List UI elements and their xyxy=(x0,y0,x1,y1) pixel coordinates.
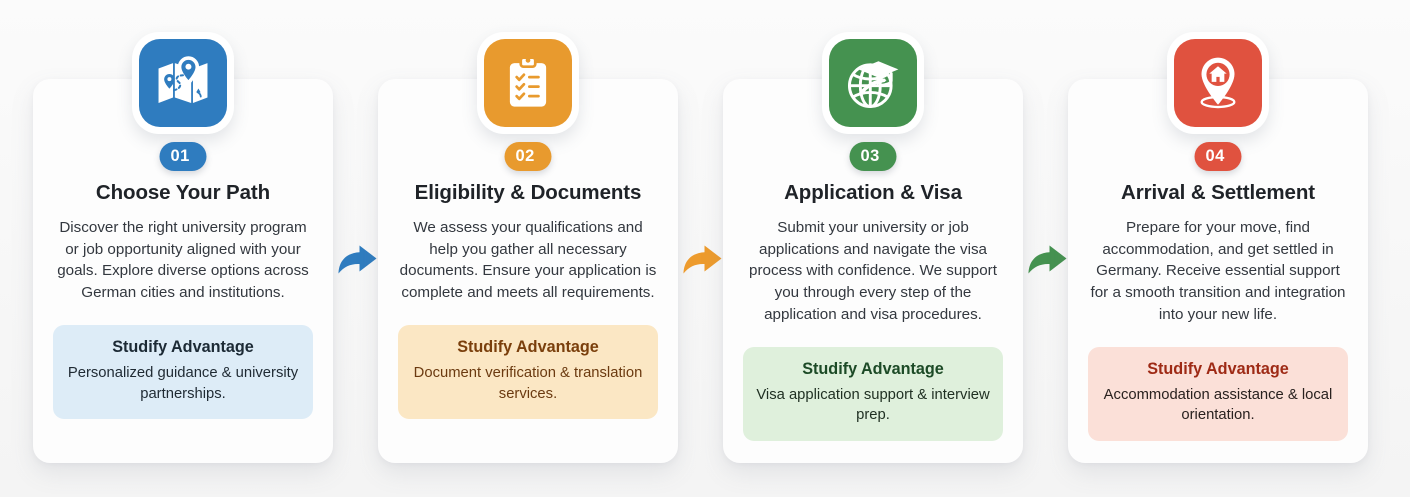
advantage-title: Studify Advantage xyxy=(753,360,993,379)
step-card-01[interactable]: Choose Your Path Discover the right univ… xyxy=(33,79,333,463)
step-icon-tile-wrapper-01 xyxy=(132,32,234,134)
step-number-badge-02: 02 xyxy=(505,142,552,171)
step-icon-tile-wrapper-02 xyxy=(477,32,579,134)
advantage-title: Studify Advantage xyxy=(408,338,648,357)
studify-advantage-panel: Studify Advantage Accommodation assistan… xyxy=(1088,347,1348,441)
step-title: Choose Your Path xyxy=(51,181,315,205)
step-number-badge-01: 01 xyxy=(160,142,207,171)
step-description: Submit your university or job applicatio… xyxy=(741,217,1005,326)
folded-map-icon xyxy=(139,39,227,127)
arrow-step-2-to-3 xyxy=(678,0,723,497)
advantage-text: Visa application support & interview pre… xyxy=(753,385,993,426)
arrow-step-1-to-2 xyxy=(333,0,378,497)
step-title: Application & Visa xyxy=(741,181,1005,205)
advantage-text: Accommodation assistance & local orienta… xyxy=(1098,385,1338,426)
studify-advantage-panel: Studify Advantage Document verification … xyxy=(398,325,658,419)
step-number-badge-04: 04 xyxy=(1195,142,1242,171)
advantage-title: Studify Advantage xyxy=(63,338,303,357)
step-description: Prepare for your move, find accommodatio… xyxy=(1086,217,1350,326)
process-step-03: 03 Application & Visa Submit your univer… xyxy=(723,79,1023,463)
globe-graduation-cap-icon xyxy=(829,39,917,127)
home-location-pin-icon xyxy=(1174,39,1262,127)
step-description: Discover the right university program or… xyxy=(51,217,315,304)
steps-track: 01 Choose Your Path Discover the right u… xyxy=(0,0,1410,497)
step-card-03[interactable]: Application & Visa Submit your universit… xyxy=(723,79,1023,463)
advantage-text: Personalized guidance & university partn… xyxy=(63,363,303,404)
process-step-02: 02 Eligibility & Documents We assess you… xyxy=(378,79,678,463)
arrow-step-3-to-4 xyxy=(1023,0,1068,497)
process-flow-diagram: 01 Choose Your Path Discover the right u… xyxy=(0,0,1410,497)
studify-advantage-panel: Studify Advantage Visa application suppo… xyxy=(743,347,1003,441)
step-title: Arrival & Settlement xyxy=(1086,181,1350,205)
process-step-01: 01 Choose Your Path Discover the right u… xyxy=(33,79,333,463)
step-icon-tile-wrapper-04 xyxy=(1167,32,1269,134)
step-title: Eligibility & Documents xyxy=(396,181,660,205)
step-card-02[interactable]: Eligibility & Documents We assess your q… xyxy=(378,79,678,463)
advantage-title: Studify Advantage xyxy=(1098,360,1338,379)
step-number-badge-03: 03 xyxy=(850,142,897,171)
studify-advantage-panel: Studify Advantage Personalized guidance … xyxy=(53,325,313,419)
process-step-04: 04 Arrival & Settlement Prepare for your… xyxy=(1068,79,1368,463)
step-card-04[interactable]: Arrival & Settlement Prepare for your mo… xyxy=(1068,79,1368,463)
advantage-text: Document verification & translation serv… xyxy=(408,363,648,404)
step-icon-tile-wrapper-03 xyxy=(822,32,924,134)
clipboard-checklist-icon xyxy=(484,39,572,127)
step-description: We assess your qualifications and help y… xyxy=(396,217,660,304)
